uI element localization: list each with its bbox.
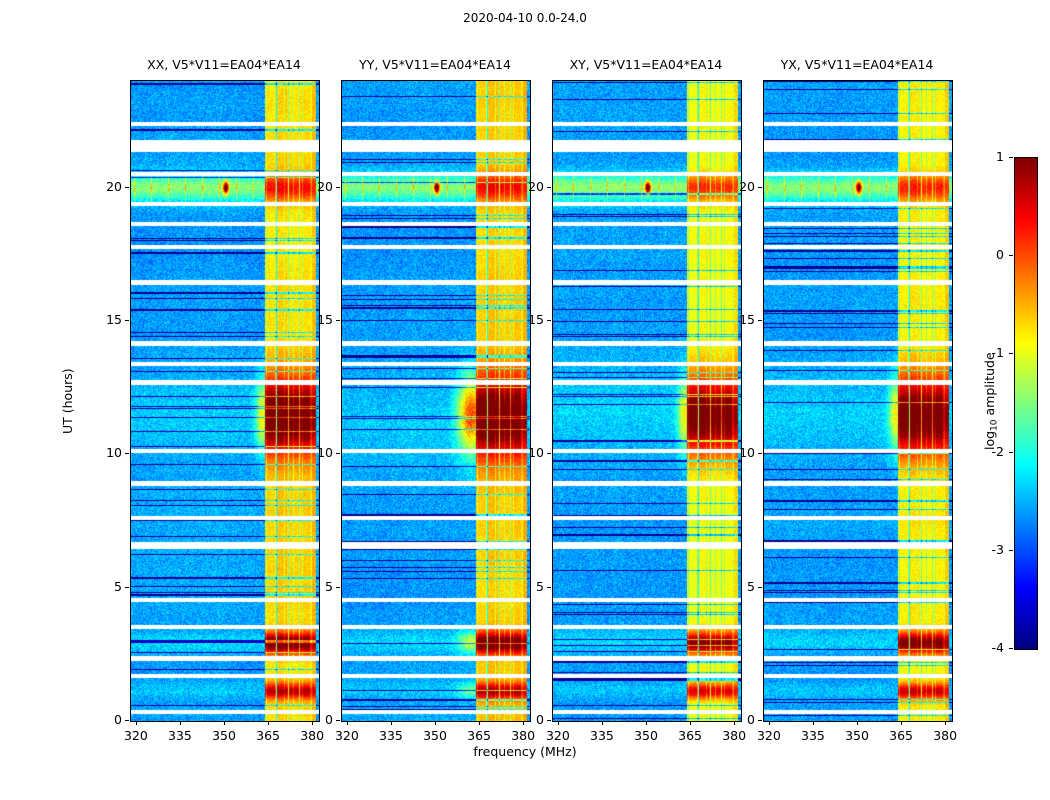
figure-suptitle: 2020-04-10 0.0-24.0 [0, 11, 1050, 25]
y-tick-mark [125, 587, 129, 588]
x-tick-mark [435, 721, 436, 725]
y-tick-mark [547, 320, 551, 321]
spectrum-panel-yx[interactable] [763, 80, 953, 722]
colorbar[interactable] [1014, 157, 1038, 650]
y-tick-label: 20 [715, 179, 755, 194]
x-tick-label: 365 [665, 728, 715, 743]
y-tick-mark [336, 453, 340, 454]
y-tick-mark [758, 587, 762, 588]
x-tick-mark [347, 721, 348, 725]
y-tick-mark [758, 320, 762, 321]
x-tick-label: 365 [876, 728, 926, 743]
x-tick-mark [646, 721, 647, 725]
x-tick-mark [479, 721, 480, 725]
y-tick-label: 5 [504, 579, 544, 594]
x-tick-mark [602, 721, 603, 725]
colorbar-tick-mark [1009, 648, 1013, 649]
y-tick-mark [547, 187, 551, 188]
y-tick-label: 10 [715, 445, 755, 460]
panel-title-xx: XX, V5*V11=EA04*EA14 [130, 57, 318, 72]
panel-title-yx: YX, V5*V11=EA04*EA14 [763, 57, 951, 72]
y-tick-label: 15 [504, 312, 544, 327]
y-tick-label: 5 [82, 579, 122, 594]
colorbar-tick-mark [1009, 157, 1013, 158]
x-tick-label: 350 [621, 728, 671, 743]
y-tick-mark [336, 587, 340, 588]
y-tick-label: 20 [293, 179, 333, 194]
x-tick-label: 335 [155, 728, 205, 743]
x-tick-mark [769, 721, 770, 725]
x-tick-mark [391, 721, 392, 725]
y-tick-mark [125, 720, 129, 721]
panel-title-xy: XY, V5*V11=EA04*EA14 [552, 57, 740, 72]
colorbar-label-subscript: 10 [989, 419, 999, 430]
x-tick-label: 365 [243, 728, 293, 743]
waterfall-image-yx [764, 81, 952, 721]
panel-title-yy: YY, V5*V11=EA04*EA14 [341, 57, 529, 72]
colorbar-label-prefix: log [982, 430, 997, 449]
y-tick-mark [547, 587, 551, 588]
x-tick-mark [857, 721, 858, 725]
x-tick-label: 365 [454, 728, 504, 743]
x-tick-label: 335 [366, 728, 416, 743]
colorbar-tick-mark [1009, 353, 1013, 354]
colorbar-tick-label: 1 [974, 149, 1004, 164]
colorbar-tick-label: -3 [974, 542, 1004, 557]
y-tick-label: 0 [82, 712, 122, 727]
colorbar-tick-mark [1009, 255, 1013, 256]
y-tick-mark [125, 453, 129, 454]
x-tick-mark [690, 721, 691, 725]
x-tick-label: 350 [410, 728, 460, 743]
colorbar-label-suffix: amplitude [982, 352, 997, 419]
colorbar-tick-label: -4 [974, 640, 1004, 655]
y-tick-label: 0 [715, 712, 755, 727]
y-tick-mark [547, 453, 551, 454]
y-tick-mark [758, 187, 762, 188]
y-tick-label: 15 [715, 312, 755, 327]
x-tick-mark [136, 721, 137, 725]
y-tick-label: 10 [293, 445, 333, 460]
x-tick-label: 350 [832, 728, 882, 743]
x-tick-mark [224, 721, 225, 725]
y-tick-mark [336, 720, 340, 721]
figure-canvas: 2020-04-10 0.0-24.0 XX, V5*V11=EA04*EA14… [0, 0, 1050, 800]
x-tick-mark [180, 721, 181, 725]
y-tick-mark [758, 720, 762, 721]
x-tick-mark [813, 721, 814, 725]
colorbar-label: log10 amplitude [982, 352, 999, 450]
y-tick-mark [125, 320, 129, 321]
y-axis-label: UT (hours) [60, 368, 75, 434]
y-tick-label: 0 [504, 712, 544, 727]
x-tick-mark [945, 721, 946, 725]
y-tick-mark [336, 187, 340, 188]
y-tick-mark [547, 720, 551, 721]
colorbar-gradient [1015, 158, 1037, 649]
y-tick-mark [758, 453, 762, 454]
spectrum-panel-xx[interactable] [130, 80, 320, 722]
spectrum-panel-yy[interactable] [341, 80, 531, 722]
x-tick-label: 320 [322, 728, 372, 743]
x-tick-mark [901, 721, 902, 725]
spectrum-panel-xy[interactable] [552, 80, 742, 722]
y-tick-label: 10 [504, 445, 544, 460]
y-tick-label: 20 [82, 179, 122, 194]
colorbar-tick-mark [1009, 550, 1013, 551]
x-tick-label: 350 [199, 728, 249, 743]
y-tick-label: 10 [82, 445, 122, 460]
y-tick-mark [336, 320, 340, 321]
y-tick-label: 0 [293, 712, 333, 727]
x-tick-label: 320 [744, 728, 794, 743]
y-tick-label: 5 [715, 579, 755, 594]
x-tick-label: 380 [920, 728, 970, 743]
x-axis-label: frequency (MHz) [0, 744, 1050, 759]
x-tick-label: 335 [577, 728, 627, 743]
y-tick-label: 20 [504, 179, 544, 194]
x-tick-mark [268, 721, 269, 725]
y-tick-label: 5 [293, 579, 333, 594]
y-tick-label: 15 [293, 312, 333, 327]
waterfall-image-yy [342, 81, 530, 721]
x-tick-label: 335 [788, 728, 838, 743]
waterfall-image-xy [553, 81, 741, 721]
x-tick-label: 320 [533, 728, 583, 743]
colorbar-tick-label: 0 [974, 247, 1004, 262]
y-tick-mark [125, 187, 129, 188]
x-tick-mark [558, 721, 559, 725]
y-tick-label: 15 [82, 312, 122, 327]
colorbar-tick-mark [1009, 452, 1013, 453]
waterfall-image-xx [131, 81, 319, 721]
x-tick-label: 320 [111, 728, 161, 743]
